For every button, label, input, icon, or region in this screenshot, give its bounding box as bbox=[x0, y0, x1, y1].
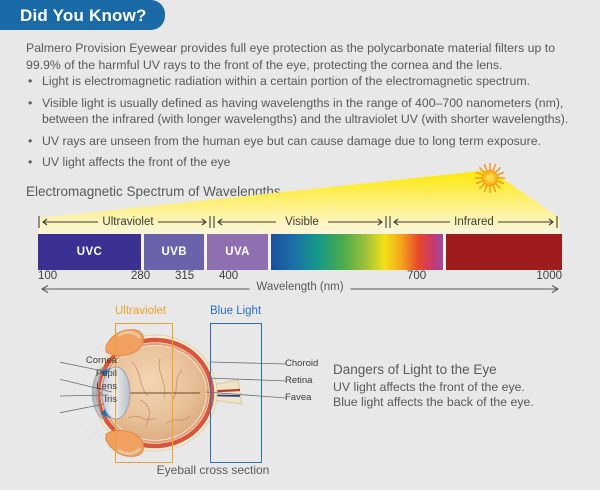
list-item: UV light affects the front of the eye bbox=[26, 154, 578, 171]
range-label-infrared: Infrared bbox=[454, 212, 494, 232]
label-lens: Lens bbox=[57, 381, 117, 394]
eyeball-caption: Eyeball cross section bbox=[123, 463, 303, 477]
bullet-list: Light is electromagnetic radiation withi… bbox=[26, 73, 578, 176]
range-label-visible: Visible bbox=[285, 212, 319, 232]
spectrum-diagram: Ultraviolet Visible Infrared UVC UVB UVA… bbox=[38, 212, 562, 274]
dangers-line-2: Blue light affects the back of the eye. bbox=[333, 395, 583, 410]
label-pupil: Pupil bbox=[57, 368, 117, 381]
label-iris: Iris bbox=[57, 394, 117, 407]
page-title: Did You Know? bbox=[20, 7, 147, 24]
ultraviolet-region-frame bbox=[115, 323, 173, 463]
band-visible bbox=[271, 234, 443, 270]
tick-315: 315 bbox=[175, 270, 194, 282]
label-retina: Retina bbox=[285, 375, 318, 392]
band-uvb-label: UVB bbox=[144, 246, 204, 258]
ultraviolet-region-label: Ultraviolet bbox=[115, 305, 166, 317]
list-item: Light is electromagnetic radiation withi… bbox=[26, 73, 578, 90]
band-infrared bbox=[446, 234, 562, 270]
dangers-line-1: UV light affects the front of the eye. bbox=[333, 380, 583, 395]
dangers-block: Dangers of Light to the Eye UV light aff… bbox=[333, 362, 583, 410]
blue-light-region-frame bbox=[210, 323, 262, 463]
range-label-ultraviolet: Ultraviolet bbox=[102, 212, 153, 232]
eye-labels-left: Cornea Pupil Lens Iris bbox=[57, 355, 117, 407]
band-uvc-label: UVC bbox=[38, 246, 141, 258]
header-tab: Did You Know? bbox=[0, 0, 165, 30]
tick-700: 700 bbox=[407, 270, 426, 282]
label-cornea: Cornea bbox=[57, 355, 117, 368]
label-favea: Favea bbox=[285, 392, 318, 409]
eye-diagram: Ultraviolet Blue Light Cornea Pupil Lens… bbox=[60, 300, 320, 480]
tick-1000: 1000 bbox=[536, 270, 562, 282]
spectrum-section-title: Electromagnetic Spectrum of Wavelengths bbox=[26, 184, 281, 199]
band-uvb: UVB bbox=[144, 234, 204, 270]
spectrum-bar: UVC UVB UVA bbox=[38, 234, 562, 270]
infographic-page: Did You Know? Palmero Provision Eyewear … bbox=[0, 0, 600, 490]
tick-400: 400 bbox=[219, 270, 238, 282]
wavelength-axis-label: Wavelength (nm) bbox=[249, 281, 350, 293]
label-choroid: Choroid bbox=[285, 358, 318, 375]
blue-light-region-label: Blue Light bbox=[210, 305, 261, 317]
dangers-title: Dangers of Light to the Eye bbox=[333, 362, 583, 377]
wavelength-axis: Wavelength (nm) bbox=[38, 282, 562, 298]
band-uvc: UVC bbox=[38, 234, 141, 270]
list-item: Visible light is usually defined as havi… bbox=[26, 95, 578, 128]
tick-100: 100 bbox=[38, 270, 57, 282]
eye-labels-right: Choroid Retina Favea bbox=[285, 358, 318, 409]
list-item: UV rays are unseen from the human eye bu… bbox=[26, 133, 578, 150]
intro-paragraph: Palmero Provision Eyewear provides full … bbox=[26, 40, 574, 73]
tick-280: 280 bbox=[131, 270, 150, 282]
band-uva-label: UVA bbox=[207, 246, 267, 258]
band-uva: UVA bbox=[207, 234, 267, 270]
